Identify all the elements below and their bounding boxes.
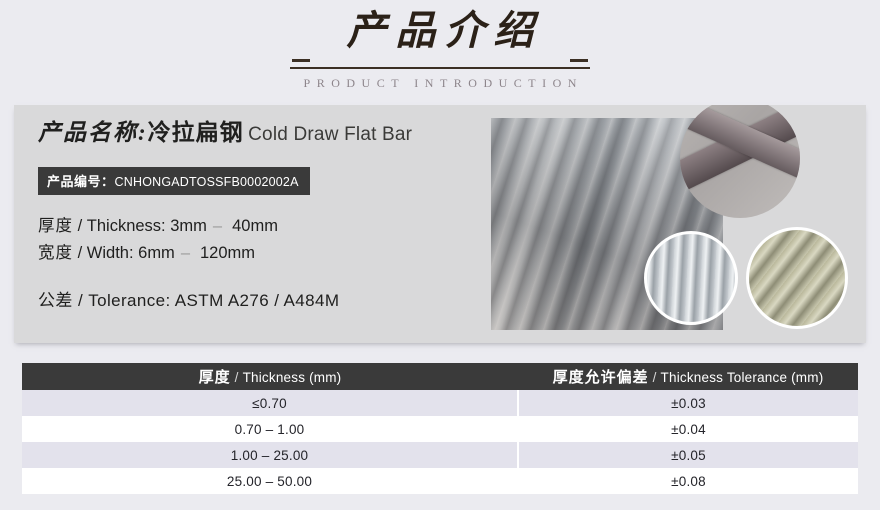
spec-thickness-label-en: Thickness: (87, 217, 166, 235)
spec-thickness-max: 40mm (232, 217, 278, 235)
spec-list: 厚度 / Thickness: 3mm–40mm 宽度 / Width: 6mm… (38, 213, 498, 311)
cell-tolerance: ±0.05 (518, 442, 858, 468)
spec-tolerance-value: Tolerance: ASTM A276 / A484M (88, 291, 339, 310)
spec-tolerance-label-cn: 公差 (38, 291, 73, 310)
column-header-tolerance-cn: 厚度允许偏差 (553, 369, 649, 386)
cell-tolerance: ±0.04 (518, 416, 858, 442)
page-header: 产品介绍 PRODUCT INTRODUCTION (0, 0, 880, 100)
column-header-thickness-sep: / (231, 370, 243, 385)
table-header-row: 厚度/Thickness (mm) 厚度允许偏差/Thickness Toler… (22, 363, 858, 390)
cell-thickness: 25.00 – 50.00 (22, 468, 518, 494)
spec-width-max: 120mm (200, 244, 255, 262)
divider-dash-left-icon (292, 59, 310, 62)
sku-label: 产品编号： (47, 174, 115, 189)
column-header-thickness-en: Thickness (mm) (243, 370, 342, 385)
product-name-cn: 冷拉扁钢 (148, 119, 244, 145)
spec-width-min: 6mm (138, 244, 175, 262)
spec-width: 宽度 / Width: 6mm–120mm (38, 240, 498, 267)
cell-thickness: 1.00 – 25.00 (22, 442, 518, 468)
cell-thickness: 0.70 – 1.00 (22, 416, 518, 442)
spec-width-slash: / (78, 244, 83, 262)
product-inset-photo-bundled-bars (644, 231, 738, 325)
spec-width-label-en: Width: (87, 244, 134, 262)
column-header-tolerance: 厚度允许偏差/Thickness Tolerance (mm) (518, 363, 858, 390)
spec-width-label-cn: 宽度 (38, 244, 73, 262)
product-info: 产品名称:冷拉扁钢 Cold Draw Flat Bar 产品编号：CNHONG… (38, 115, 498, 311)
thickness-tolerance-table: 厚度/Thickness (mm) 厚度允许偏差/Thickness Toler… (22, 363, 858, 494)
column-header-tolerance-en: Thickness Tolerance (mm) (661, 370, 824, 385)
table-row: 25.00 – 50.00 ±0.08 (22, 468, 858, 494)
divider-dash-right-icon (570, 59, 588, 62)
page-title: 产品介绍 (290, 8, 590, 54)
divider-rule (290, 67, 590, 69)
column-header-tolerance-sep: / (649, 370, 661, 385)
column-header-thickness: 厚度/Thickness (mm) (22, 363, 518, 390)
sku-value: CNHONGADTOSSFB0002002A (115, 175, 299, 189)
spec-width-separator: – (175, 244, 200, 262)
product-name-label: 产品名称: (38, 120, 148, 145)
spec-thickness-min: 3mm (170, 217, 207, 235)
table-row: 1.00 – 25.00 ±0.05 (22, 442, 858, 468)
spec-thickness-slash: / (78, 217, 83, 235)
cell-tolerance: ±0.03 (518, 390, 858, 416)
page-subtitle: PRODUCT INTRODUCTION (290, 76, 590, 91)
cell-tolerance: ±0.08 (518, 468, 858, 494)
spec-thickness-label-cn: 厚度 (38, 217, 73, 235)
title-divider (290, 52, 590, 68)
spec-tolerance: 公差 / Tolerance: ASTM A276 / A484M (38, 286, 498, 311)
product-name-row: 产品名称:冷拉扁钢 Cold Draw Flat Bar (38, 115, 498, 153)
product-inset-photo-crossed-bars (680, 105, 800, 218)
spec-thickness-separator: – (207, 217, 232, 235)
table-row: 0.70 – 1.00 ±0.04 (22, 416, 858, 442)
product-name-en: Cold Draw Flat Bar (248, 124, 412, 145)
cell-thickness: ≤0.70 (22, 390, 518, 416)
title-block: 产品介绍 PRODUCT INTRODUCTION (290, 8, 590, 91)
product-card: 产品名称:冷拉扁钢 Cold Draw Flat Bar 产品编号：CNHONG… (14, 105, 866, 343)
product-inset-photo-brass-bars (746, 227, 848, 329)
column-header-thickness-cn: 厚度 (199, 369, 231, 386)
product-sku-badge: 产品编号：CNHONGADTOSSFB0002002A (38, 167, 310, 195)
spec-thickness: 厚度 / Thickness: 3mm–40mm (38, 213, 498, 240)
table-row: ≤0.70 ±0.03 (22, 390, 858, 416)
spec-tolerance-slash: / (78, 291, 83, 310)
